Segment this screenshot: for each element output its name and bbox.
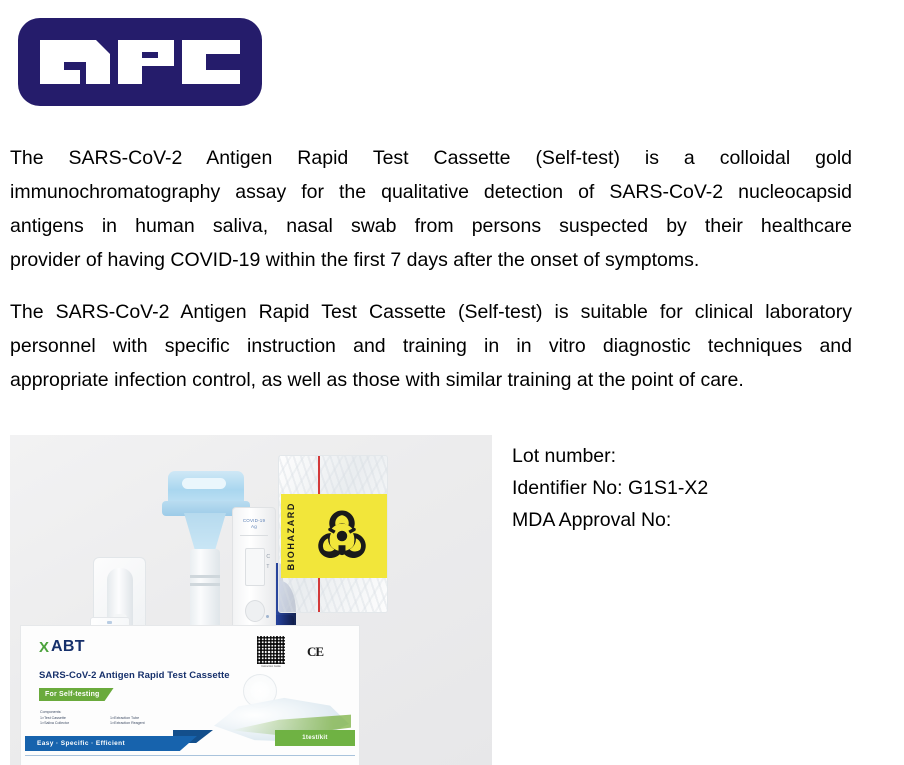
product-box: X ABT Instruction Guide CE SARS-CoV-2 An… <box>20 625 360 765</box>
biohazard-icon <box>313 507 371 565</box>
product-kit-photo: COVID-19 Ag C T BIOHAZARD <box>10 435 492 765</box>
abt-x-mark: X <box>39 640 48 655</box>
box-base-rule <box>25 755 355 757</box>
lot-info-block: Lot number: Identifier No: G1S1-X2 MDA A… <box>512 440 708 536</box>
component-item: 1×Extraction Reagent <box>110 721 200 727</box>
collector-tube-ring <box>190 583 220 586</box>
qr-code-caption: Instruction Guide <box>253 665 289 668</box>
paragraph-line: provider of having COVID-19 within the f… <box>10 243 852 277</box>
cassette-test-mark: T <box>266 564 269 570</box>
paragraph-line: immunochromatography assay for the quali… <box>10 175 852 209</box>
product-box-title: SARS-CoV-2 Antigen Rapid Test Cassette <box>39 670 230 681</box>
test-cassette: COVID-19 Ag C T <box>232 507 276 631</box>
intro-paragraph: The SARS-CoV-2 Antigen Rapid Test Casset… <box>10 141 852 277</box>
component-item: 1×Saliva Collector <box>40 721 110 727</box>
swab-pouch-topmark <box>107 621 112 624</box>
collector-funnel-slot <box>182 478 226 489</box>
paragraph-line: antigens in human saliva, nasal swab fro… <box>10 209 852 243</box>
tagline-bar: Easy · Specific · Efficient <box>25 736 197 751</box>
biohazard-bag: BIOHAZARD <box>278 455 388 613</box>
cassette-ct-marks: C T <box>266 552 270 572</box>
paragraph-line: personnel with specific instruction and … <box>10 329 852 363</box>
ce-mark-icon: CE <box>307 644 323 660</box>
cassette-label-line2: Ag <box>251 524 257 529</box>
qr-code-icon <box>257 636 285 664</box>
components-list: Components: 1×Test Cassette 1×Extraction… <box>40 710 200 727</box>
abt-brand-logo: X ABT <box>39 639 85 655</box>
paragraph-line: The SARS-CoV-2 Antigen Rapid Test Casset… <box>10 141 852 175</box>
cassette-label: COVID-19 Ag <box>233 518 275 530</box>
dpc-logo <box>18 18 262 106</box>
collector-tube-ring <box>190 575 220 578</box>
cassette-dot <box>266 615 269 618</box>
lot-number-line: Lot number: <box>512 440 708 472</box>
abt-wordmark: ABT <box>51 639 85 655</box>
paragraph-line: appropriate infection control, as well a… <box>10 363 852 397</box>
cassette-hairline <box>240 535 268 536</box>
cassette-label-line1: COVID-19 <box>243 518 265 523</box>
self-testing-badge: For Self-testing <box>39 688 114 701</box>
logo-dpc-lettermark <box>18 18 262 106</box>
biohazard-label-text: BIOHAZARD <box>286 502 296 570</box>
cassette-sample-well <box>245 600 265 622</box>
paragraph-line: The SARS-CoV-2 Antigen Rapid Test Casset… <box>10 295 852 329</box>
cassette-result-window <box>245 548 265 586</box>
cassette-control-mark: C <box>266 554 270 560</box>
kit-count-tab: 1test/kit <box>275 730 355 746</box>
collector-funnel-cone <box>184 513 226 553</box>
identifier-no-line: Identifier No: G1S1-X2 <box>512 472 708 504</box>
biohazard-label: BIOHAZARD <box>281 494 387 578</box>
mda-approval-no-line: MDA Approval No: <box>512 504 708 536</box>
intended-user-paragraph: The SARS-CoV-2 Antigen Rapid Test Casset… <box>10 295 852 397</box>
